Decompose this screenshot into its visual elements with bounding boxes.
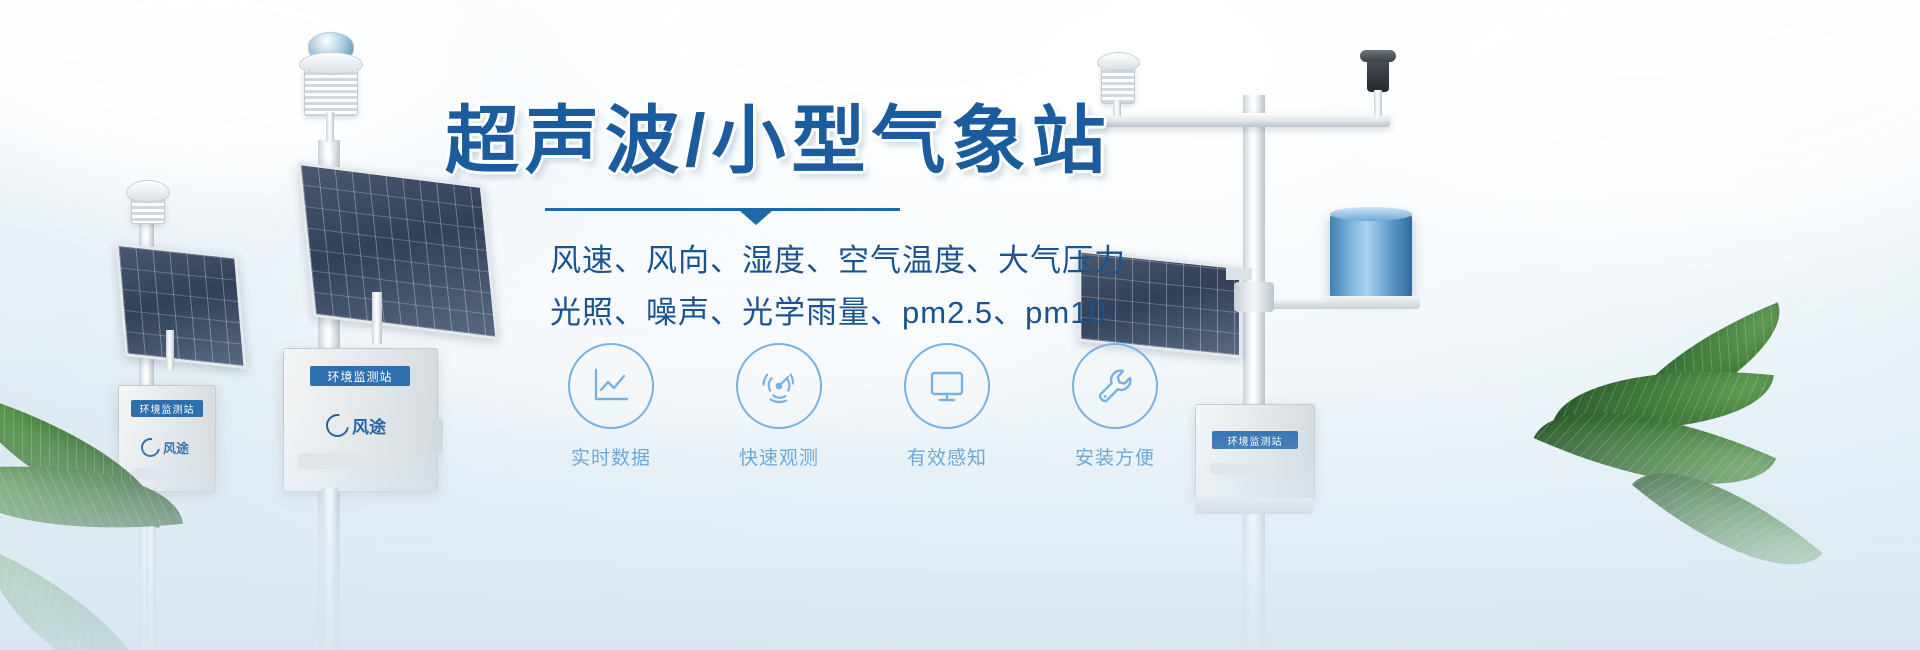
cabinet-label: 环境监测站 bbox=[310, 366, 410, 386]
radiation-shield-sensor bbox=[304, 68, 358, 116]
line-chart-icon bbox=[568, 343, 654, 429]
feature-label: 有效感知 bbox=[907, 443, 987, 470]
rain-gauge-funnel bbox=[1330, 207, 1412, 221]
wrench-tool-icon bbox=[1072, 343, 1158, 429]
subtitle-line-2: 光照、噪声、光学雨量、pm2.5、pm10 bbox=[550, 288, 1135, 338]
feature-item-effective-sensing[interactable]: 有效感知 bbox=[884, 343, 1010, 470]
subtitle-line-1: 风速、风向、湿度、空气温度、大气压力 bbox=[550, 236, 1135, 286]
sensor-cap bbox=[126, 180, 170, 202]
weather-station-banner: 环境监测站 风途 环境监测站 风途 bbox=[0, 0, 1920, 650]
feature-label: 快速观测 bbox=[739, 443, 819, 470]
feature-label: 实时数据 bbox=[571, 443, 651, 470]
radar-signal-icon bbox=[736, 343, 822, 429]
cross-arm bbox=[1090, 113, 1390, 127]
mounting-collar bbox=[1234, 282, 1274, 312]
cabinet-label: 环境监测站 bbox=[131, 400, 203, 417]
sensor-hood bbox=[1360, 50, 1396, 62]
solar-panel bbox=[115, 243, 246, 369]
feature-label: 安装方便 bbox=[1075, 443, 1155, 470]
sensor-cap bbox=[299, 52, 363, 74]
panel-support-arm bbox=[166, 330, 174, 370]
rain-gauge bbox=[1330, 213, 1412, 299]
panel-support-arm bbox=[1226, 268, 1252, 280]
noise-sensor bbox=[1367, 58, 1389, 92]
sensor-cap bbox=[1097, 52, 1140, 71]
panel-support-arm bbox=[372, 292, 382, 344]
feature-item-fast-observation[interactable]: 快速观测 bbox=[716, 343, 842, 470]
sensor-stem bbox=[1374, 90, 1382, 116]
feature-list: 实时数据 快速观测 bbox=[548, 343, 1178, 470]
rain-gauge-base bbox=[1322, 296, 1420, 309]
banner-copy: 超声波/小型气象站 风速、风向、湿度、空气温度、大气压力 光照、噪声、光学雨量、… bbox=[445, 104, 1135, 338]
divider-bar bbox=[545, 208, 900, 211]
title-divider bbox=[545, 208, 900, 222]
feature-item-easy-install[interactable]: 安装方便 bbox=[1052, 343, 1178, 470]
monitor-display-icon bbox=[904, 343, 990, 429]
divider-triangle-icon bbox=[740, 211, 772, 225]
page-title: 超声波/小型气象站 bbox=[445, 104, 1135, 178]
feature-item-realtime-data[interactable]: 实时数据 bbox=[548, 343, 674, 470]
sensor-stem bbox=[326, 112, 334, 142]
